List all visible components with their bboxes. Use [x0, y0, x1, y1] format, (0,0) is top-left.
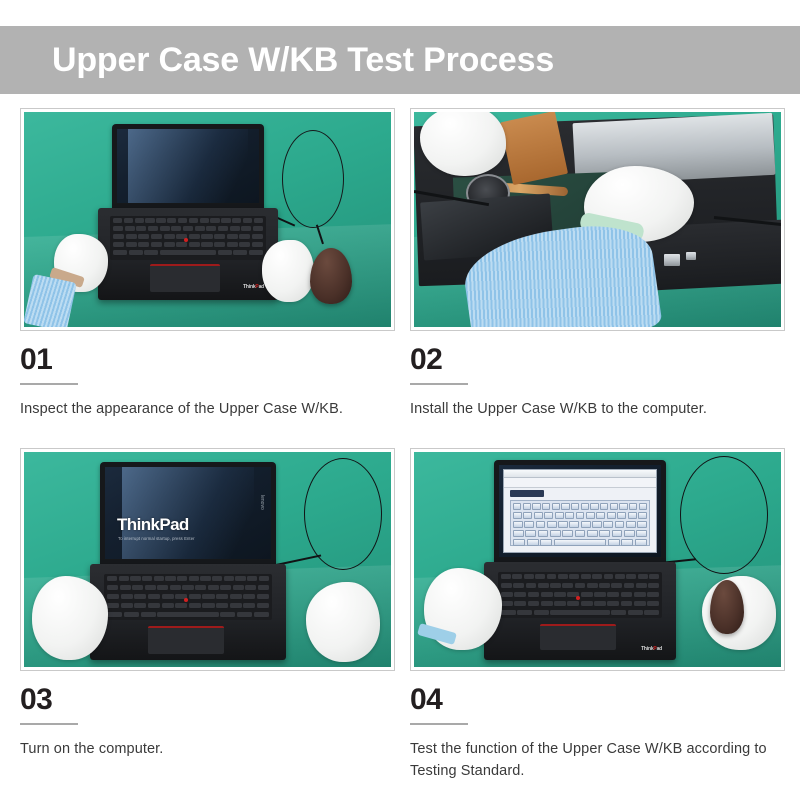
step-caption-02: Install the Upper Case W/KB to the compu… [410, 399, 785, 420]
key [157, 612, 218, 618]
key [501, 601, 513, 607]
key [121, 594, 133, 600]
virtual-key[interactable] [621, 539, 633, 546]
key [648, 583, 659, 589]
thinkpad-logo: ThinkPad [243, 284, 264, 290]
keyboard-row [113, 218, 263, 224]
key [189, 218, 198, 224]
virtual-key[interactable] [554, 539, 606, 546]
key [581, 601, 593, 607]
step-photo-frame-04: ThinkPad [410, 448, 785, 671]
key [200, 218, 209, 224]
key [220, 585, 231, 591]
key [202, 594, 214, 600]
key [257, 594, 269, 600]
virtual-key[interactable] [542, 503, 550, 510]
steps-grid: ThinkPad 01 Inspect the appearance of th… [20, 108, 785, 782]
key [107, 585, 118, 591]
step-card-03: ThinkPad To interrupt normal startup, pr… [20, 448, 395, 782]
key [214, 242, 225, 248]
virtual-key[interactable] [639, 503, 647, 510]
step-caption-01: Inspect the appearance of the Upper Case… [20, 399, 395, 420]
key [142, 576, 152, 582]
keyboard-row [107, 585, 269, 591]
key [218, 226, 228, 232]
virtual-keyboard-row [513, 503, 647, 510]
virtual-keyboard-row [513, 512, 647, 519]
key [138, 242, 149, 248]
key [594, 601, 606, 607]
key [550, 583, 561, 589]
key [647, 592, 659, 598]
key [156, 218, 165, 224]
laptop-lid: ThinkPad To interrupt normal startup, pr… [100, 462, 276, 568]
small-label-2 [686, 252, 696, 260]
virtual-key[interactable] [610, 503, 618, 510]
virtual-key[interactable] [636, 530, 647, 537]
virtual-key[interactable] [527, 539, 539, 546]
step-number-02: 02 [410, 345, 785, 375]
key [501, 592, 513, 598]
step-card-01: ThinkPad 01 Inspect the appearance of th… [20, 108, 395, 420]
key [594, 592, 606, 598]
key [528, 601, 540, 607]
keyboard-row [113, 226, 263, 232]
key [113, 226, 123, 232]
key [216, 594, 228, 600]
key [259, 576, 269, 582]
step-photo-03: ThinkPad To interrupt normal startup, pr… [24, 452, 391, 667]
key [517, 610, 532, 616]
virtual-key[interactable] [544, 512, 553, 519]
key [175, 603, 187, 609]
step-photo-04: ThinkPad [414, 452, 781, 667]
key [501, 610, 516, 616]
key [148, 594, 160, 600]
virtual-key[interactable] [638, 512, 647, 519]
key [126, 242, 137, 248]
virtual-key[interactable] [552, 503, 560, 510]
key [202, 603, 214, 609]
key [170, 585, 181, 591]
laptop-base: ThinkPad [484, 562, 676, 660]
touchpad [148, 626, 224, 654]
step-number-04: 04 [410, 685, 785, 715]
key [124, 218, 133, 224]
key [592, 574, 602, 580]
key [107, 612, 122, 618]
virtual-key[interactable] [587, 530, 598, 537]
key [148, 603, 160, 609]
key [258, 585, 269, 591]
virtual-key[interactable] [558, 521, 568, 528]
step-card-04: ThinkPad 04 Test the function of the Upp… [410, 448, 785, 782]
key [621, 601, 633, 607]
key [167, 218, 176, 224]
laptop-screen [117, 129, 259, 203]
key [587, 583, 598, 589]
key [165, 576, 175, 582]
key [224, 576, 234, 582]
key [538, 583, 549, 589]
key [611, 583, 622, 589]
virtual-key[interactable] [524, 521, 534, 528]
key [164, 242, 175, 248]
virtual-key[interactable] [637, 521, 647, 528]
virtual-key[interactable] [534, 512, 543, 519]
mouse-cable-loop [680, 456, 768, 574]
key [232, 218, 241, 224]
key [121, 603, 133, 609]
key [145, 585, 156, 591]
virtual-key[interactable] [536, 521, 546, 528]
boot-message: To interrupt normal startup, press Enter [118, 536, 195, 541]
virtual-key[interactable] [617, 512, 626, 519]
key [649, 574, 659, 580]
app-status-badge [510, 490, 544, 497]
step-number-01: 01 [20, 345, 395, 375]
virtual-key[interactable] [569, 521, 579, 528]
key [243, 594, 255, 600]
key [647, 601, 659, 607]
key [107, 576, 117, 582]
keyboard-row [107, 576, 269, 582]
key [130, 576, 140, 582]
key [615, 574, 625, 580]
virtual-key[interactable] [586, 512, 595, 519]
steps-row-1: ThinkPad 01 Inspect the appearance of th… [20, 108, 785, 420]
step-photo-frame-03: ThinkPad To interrupt normal startup, pr… [20, 448, 395, 671]
key [514, 601, 526, 607]
key [113, 242, 124, 248]
key [144, 250, 158, 256]
key [252, 242, 263, 248]
virtual-key[interactable] [615, 521, 625, 528]
key [151, 234, 162, 240]
key [534, 610, 549, 616]
keyboard-row [107, 612, 269, 618]
screen-reflection [122, 467, 255, 559]
keyboard-deck [104, 574, 272, 620]
key [126, 234, 137, 240]
key [120, 585, 131, 591]
key [607, 601, 619, 607]
key [634, 601, 646, 607]
app-toolbar[interactable] [504, 478, 656, 488]
key [644, 610, 659, 616]
step-number-03: 03 [20, 685, 395, 715]
virtual-key[interactable] [612, 530, 623, 537]
key [241, 226, 251, 232]
step-card-02: 02 Install the Upper Case W/KB to the co… [410, 108, 785, 420]
key [208, 585, 219, 591]
app-titlebar[interactable] [504, 470, 656, 478]
laptop-lid [494, 460, 666, 566]
key [141, 612, 156, 618]
key [113, 218, 122, 224]
step-photo-frame-02 [410, 108, 785, 331]
key [243, 603, 255, 609]
key [554, 601, 566, 607]
touchpad [540, 624, 616, 650]
key [581, 592, 593, 598]
virtual-key[interactable] [619, 503, 627, 510]
key [636, 583, 647, 589]
virtual-key[interactable] [635, 539, 647, 546]
glove-right [306, 582, 380, 662]
key [524, 574, 534, 580]
keyboard-deck [110, 216, 266, 260]
virtual-key[interactable] [600, 503, 608, 510]
virtual-key[interactable] [513, 503, 521, 510]
key [626, 574, 636, 580]
key [575, 583, 586, 589]
virtual-key[interactable] [561, 503, 569, 510]
virtual-key[interactable] [513, 521, 523, 528]
key [624, 583, 635, 589]
keyboard-row [501, 574, 659, 580]
virtual-key[interactable] [599, 530, 610, 537]
virtual-key[interactable] [555, 512, 564, 519]
key [513, 583, 524, 589]
key [554, 592, 566, 598]
key [206, 226, 216, 232]
virtual-key[interactable] [523, 503, 531, 510]
key [254, 612, 269, 618]
thinkpad-logo: ThinkPad [641, 646, 662, 652]
step-rule-04 [410, 723, 468, 725]
key [195, 585, 206, 591]
keyboard-deck [498, 572, 662, 618]
virtual-key[interactable] [603, 521, 613, 528]
key [129, 250, 143, 256]
key [182, 585, 193, 591]
key [136, 226, 146, 232]
power-cable-loop [304, 458, 382, 570]
key [249, 250, 263, 256]
step-rule-01 [20, 383, 78, 385]
key [189, 594, 201, 600]
laptop-04: ThinkPad [484, 460, 676, 660]
step-photo-frame-01: ThinkPad [20, 108, 395, 331]
virtual-key[interactable] [538, 530, 549, 537]
keyboard-row [113, 250, 263, 256]
key [189, 242, 200, 248]
virtual-key[interactable] [565, 512, 574, 519]
key [162, 594, 174, 600]
key [162, 603, 174, 609]
laptop-03: ThinkPad To interrupt normal startup, pr… [90, 462, 286, 658]
key [567, 601, 579, 607]
page-title: Upper Case W/KB Test Process [52, 43, 554, 77]
virtual-key[interactable] [550, 530, 561, 537]
key [134, 594, 146, 600]
key [220, 612, 235, 618]
trackpoint-nub [184, 598, 188, 602]
key [257, 603, 269, 609]
keyboard-row [501, 610, 659, 616]
page-header-banner: Upper Case W/KB Test Process [0, 26, 800, 94]
step-photo-01: ThinkPad [24, 112, 391, 327]
key [569, 574, 579, 580]
key [535, 574, 545, 580]
virtual-key[interactable] [562, 530, 573, 537]
key [254, 218, 263, 224]
trackpoint-nub [184, 238, 188, 242]
key [607, 592, 619, 598]
key [621, 592, 633, 598]
key [233, 585, 244, 591]
step-photo-02 [414, 112, 781, 327]
key [501, 574, 511, 580]
virtual-key[interactable] [575, 530, 586, 537]
virtual-keyboard-row [513, 521, 647, 528]
key [171, 226, 181, 232]
key [233, 250, 247, 256]
thinkpad-boot-logo: ThinkPad [117, 516, 189, 533]
key [604, 574, 614, 580]
key [252, 234, 263, 240]
trackpoint-nub [576, 596, 580, 600]
virtual-key[interactable] [513, 530, 524, 537]
keyboard-row [501, 583, 659, 589]
key [243, 218, 252, 224]
virtual-key[interactable] [540, 539, 552, 546]
touchpad [150, 264, 220, 292]
virtual-key[interactable] [571, 503, 579, 510]
virtual-key[interactable] [513, 512, 522, 519]
key [201, 242, 212, 248]
virtual-key[interactable] [624, 530, 635, 537]
virtual-key[interactable] [547, 521, 557, 528]
key [183, 226, 193, 232]
step-caption-04: Test the function of the Upper Case W/KB… [410, 739, 785, 782]
virtual-key[interactable] [576, 512, 585, 519]
virtual-keyboard[interactable] [510, 500, 650, 546]
virtual-key[interactable] [607, 512, 616, 519]
keyboard-row [107, 594, 269, 600]
key [218, 250, 232, 256]
key [201, 234, 212, 240]
key [125, 226, 135, 232]
key [253, 226, 263, 232]
sleeve-left [24, 274, 77, 327]
key [528, 592, 540, 598]
key [132, 585, 143, 591]
key [599, 583, 610, 589]
key [235, 576, 245, 582]
step-rule-03 [20, 723, 78, 725]
key [230, 226, 240, 232]
virtual-key[interactable] [629, 503, 637, 510]
key [178, 218, 187, 224]
key [628, 610, 643, 616]
key [151, 242, 162, 248]
lenovo-brand-mark: lenovo [259, 495, 265, 510]
virtual-key[interactable] [513, 539, 525, 546]
key [611, 610, 626, 616]
key [177, 576, 187, 582]
virtual-key[interactable] [592, 521, 602, 528]
key [189, 576, 199, 582]
virtual-key[interactable] [525, 530, 536, 537]
key [113, 234, 124, 240]
keyboard-test-app-window [503, 469, 657, 553]
laptop-base: ThinkPad [98, 208, 278, 300]
keyboard-row [107, 603, 269, 609]
key [189, 234, 200, 240]
key [638, 574, 648, 580]
keyboard-row [113, 234, 263, 240]
key [558, 574, 568, 580]
key [562, 583, 573, 589]
virtual-key[interactable] [626, 521, 636, 528]
laptop-base [90, 564, 286, 660]
key [210, 218, 219, 224]
step-caption-03: Turn on the computer. [20, 739, 395, 760]
key [138, 234, 149, 240]
key [514, 592, 526, 598]
key [550, 610, 610, 616]
key [216, 603, 228, 609]
virtual-keyboard-row [513, 530, 647, 537]
virtual-key[interactable] [590, 503, 598, 510]
virtual-key[interactable] [596, 512, 605, 519]
key [107, 603, 119, 609]
key [200, 576, 210, 582]
key [145, 218, 154, 224]
key [526, 583, 537, 589]
key [247, 576, 257, 582]
key [245, 585, 256, 591]
key [157, 585, 168, 591]
key [501, 583, 512, 589]
key [107, 594, 119, 600]
virtual-key[interactable] [608, 539, 620, 546]
computer-mouse [710, 580, 744, 634]
key [227, 234, 238, 240]
virtual-key[interactable] [628, 512, 637, 519]
virtual-key[interactable] [532, 503, 540, 510]
key [227, 242, 238, 248]
laptop-lid [112, 124, 264, 212]
laptop-01: ThinkPad [98, 124, 278, 304]
keyboard-row [113, 242, 263, 248]
step-rule-02 [410, 383, 468, 385]
key [230, 603, 242, 609]
key [237, 612, 252, 618]
screen-reflection [128, 129, 247, 203]
key [239, 234, 250, 240]
laptop-screen-app [499, 465, 661, 557]
key [195, 226, 205, 232]
key [214, 234, 225, 240]
key [154, 576, 164, 582]
key [221, 218, 230, 224]
virtual-key[interactable] [523, 512, 532, 519]
key [230, 594, 242, 600]
key [541, 601, 553, 607]
key [124, 612, 139, 618]
key [189, 603, 201, 609]
virtual-key[interactable] [581, 521, 591, 528]
virtual-key[interactable] [581, 503, 589, 510]
key [547, 574, 557, 580]
keyboard-row [501, 601, 659, 607]
key [160, 250, 216, 256]
key [176, 242, 187, 248]
laptop-screen-boot: ThinkPad To interrupt normal startup, pr… [105, 467, 271, 559]
